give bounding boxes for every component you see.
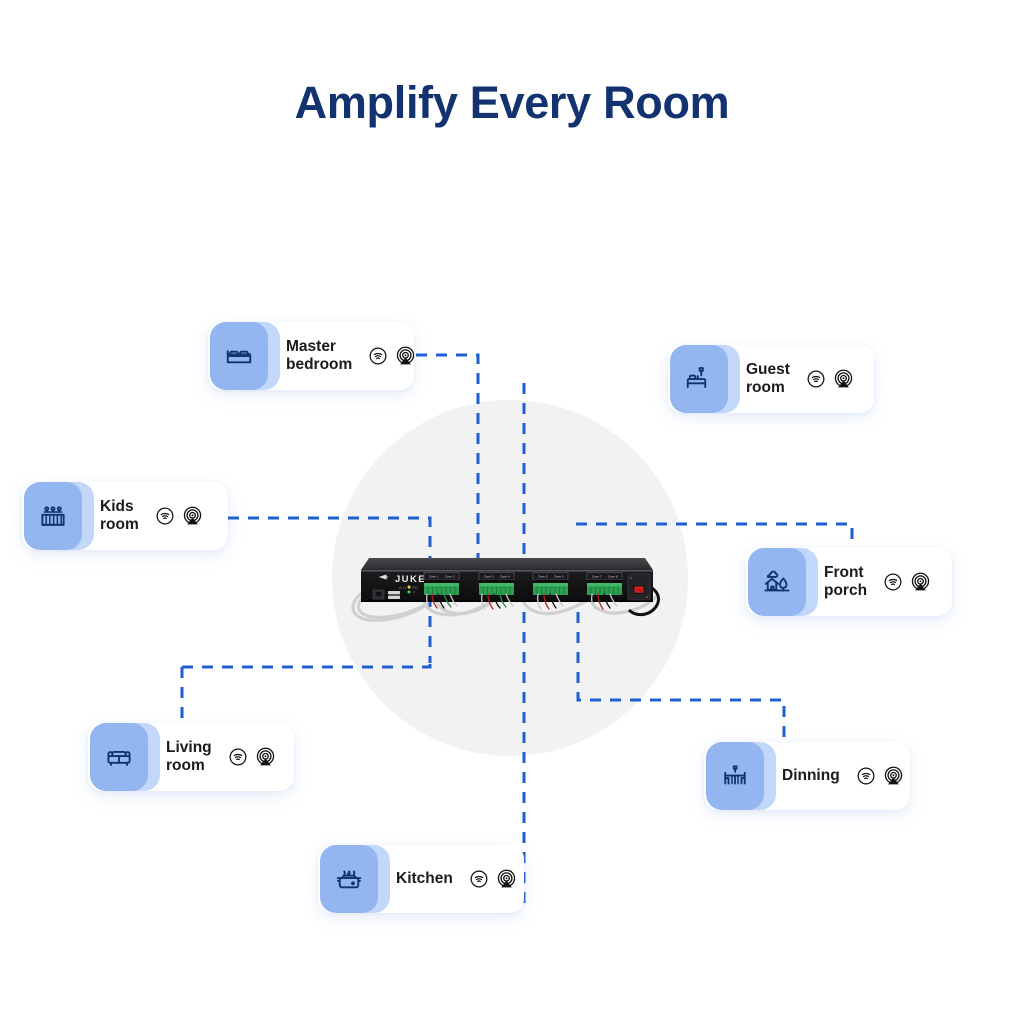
room-icon-wrap-kitchen [318,845,394,913]
icon-block [706,742,764,810]
link-dinning [578,612,784,758]
cooking-pot-icon [334,864,364,894]
wifi-circle-icon[interactable] [856,766,876,786]
link-master-bedroom [416,355,478,565]
icon-block [90,723,148,791]
room-card-living-room[interactable]: Living room [88,723,294,791]
wifi-circle-icon[interactable] [883,572,903,592]
room-label-dinning: Dinning [782,767,840,785]
svg-text:Zone 1: Zone 1 [429,575,439,579]
sofa-icon [104,742,134,772]
room-card-kitchen[interactable]: Kitchen [318,845,524,913]
wifi-circle-icon[interactable] [806,369,826,389]
bed-icon [224,341,254,371]
wifi-circle-icon[interactable] [469,869,489,889]
room-badges-master-bedroom [368,346,416,367]
room-label-kitchen: Kitchen [396,870,453,888]
svg-text:Zone 3: Zone 3 [484,575,494,579]
room-badges-living-room [228,747,276,768]
airplay-broadcast-icon[interactable] [496,869,517,890]
room-badges-guest-room [806,369,854,390]
juke-audio-amplifier: JUKE AUDIO Zone 1 Zone 2 [347,548,667,626]
room-badges-front-porch [883,572,931,593]
svg-text:Zone 5: Zone 5 [538,575,548,579]
airplay-broadcast-icon[interactable] [255,747,276,768]
room-card-dinning[interactable]: Dinning [704,742,910,810]
icon-block [670,345,728,413]
svg-text:Zone 6: Zone 6 [554,575,564,579]
airplay-broadcast-icon[interactable] [182,506,203,527]
room-card-guest-room[interactable]: Guest room [668,345,874,413]
crib-icon [38,501,68,531]
wifi-circle-icon[interactable] [155,506,175,526]
dining-table-icon [720,761,750,791]
room-card-master-bedroom[interactable]: Master bedroom [208,322,414,390]
airplay-broadcast-icon[interactable] [883,766,904,787]
room-icon-wrap-guest-room [668,345,744,413]
airplay-broadcast-icon[interactable] [910,572,931,593]
svg-text:Zone 2: Zone 2 [445,575,455,579]
room-label-master-bedroom: Master bedroom [286,338,352,374]
icon-block [210,322,268,390]
airplay-broadcast-icon[interactable] [395,346,416,367]
svg-text:Zone 4: Zone 4 [500,575,510,579]
icon-block [748,548,806,616]
svg-text:JUKE: JUKE [395,574,426,585]
room-icon-wrap-kids-room [22,482,98,550]
wifi-circle-icon[interactable] [368,346,388,366]
infographic-canvas: Amplify Every Room [0,0,1024,1024]
house-tree-icon [762,567,792,597]
svg-text:Zone 7: Zone 7 [592,575,602,579]
guest-bed-lamp-icon [684,364,714,394]
room-icon-wrap-front-porch [746,548,822,616]
airplay-broadcast-icon[interactable] [833,369,854,390]
icon-block [24,482,82,550]
room-badges-kitchen [469,869,517,890]
svg-text:Zone 8: Zone 8 [608,575,618,579]
room-icon-wrap-living-room [88,723,164,791]
room-label-living-room: Living room [166,739,212,775]
room-badges-dinning [856,766,904,787]
icon-block [320,845,378,913]
room-label-front-porch: Front porch [824,564,867,600]
svg-text:I O: I O [637,589,642,593]
wifi-circle-icon[interactable] [228,747,248,767]
room-label-guest-room: Guest room [746,361,790,397]
room-badges-kids-room [155,506,203,527]
room-label-kids-room: Kids room [100,498,139,534]
room-card-kids-room[interactable]: Kids room [22,482,228,550]
room-card-front-porch[interactable]: Front porch [746,548,952,616]
room-icon-wrap-dinning [704,742,780,810]
room-icon-wrap-master-bedroom [208,322,284,390]
